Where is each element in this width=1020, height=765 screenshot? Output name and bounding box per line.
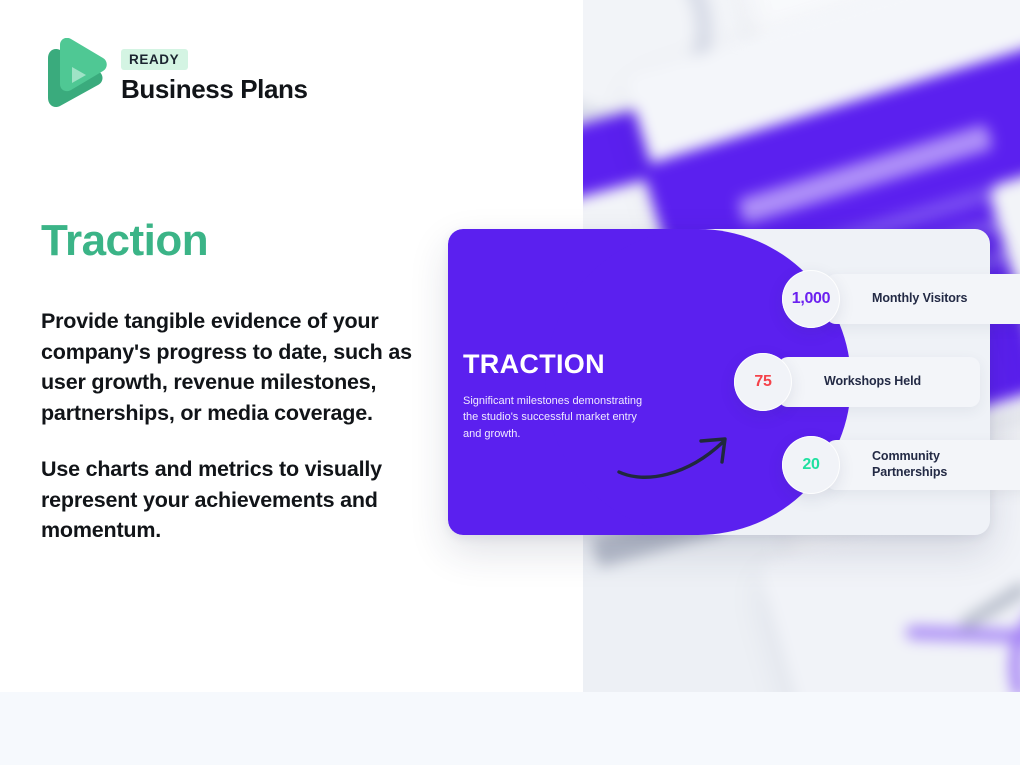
metric-value: 1,000 [792, 290, 831, 308]
curved-arrow-up-right-icon [615, 424, 745, 486]
brand-text-group: READY Business Plans [121, 49, 308, 105]
body-paragraph-2: Use charts and metrics to visually repre… [41, 454, 421, 546]
purple-blob-shape [448, 229, 698, 535]
background-text-block [959, 581, 1020, 633]
metric-label-pill: Workshops Held [778, 357, 980, 407]
play-triangle-logo-icon [41, 38, 107, 116]
metric-value: 75 [754, 373, 771, 391]
metric-label: Community Partnerships [872, 449, 947, 480]
bottom-strip [0, 692, 1020, 765]
metric-label: Workshops Held [824, 374, 921, 390]
slide-preview-page: READY Business Plans Traction Provide ta… [0, 0, 1020, 765]
page-title: Traction [41, 218, 208, 264]
metric-value: 20 [802, 456, 819, 474]
metric-value-circle: 1,000 [782, 270, 840, 328]
metric-label-pill: Community Partnerships [826, 440, 1020, 490]
metric-value-circle: 75 [734, 353, 792, 411]
brand-header: READY Business Plans [41, 38, 308, 116]
ready-badge: READY [121, 49, 188, 71]
body-copy: Provide tangible evidence of your compan… [41, 306, 421, 546]
background-donut-chart [981, 550, 1020, 692]
slide-heading: TRACTION [463, 350, 605, 380]
metric-label: Monthly Visitors [872, 291, 967, 307]
metric-label-pill: Monthly Visitors [826, 274, 1020, 324]
metric-value-circle: 20 [782, 436, 840, 494]
brand-name: Business Plans [121, 75, 308, 105]
body-paragraph-1: Provide tangible evidence of your compan… [41, 306, 421, 428]
